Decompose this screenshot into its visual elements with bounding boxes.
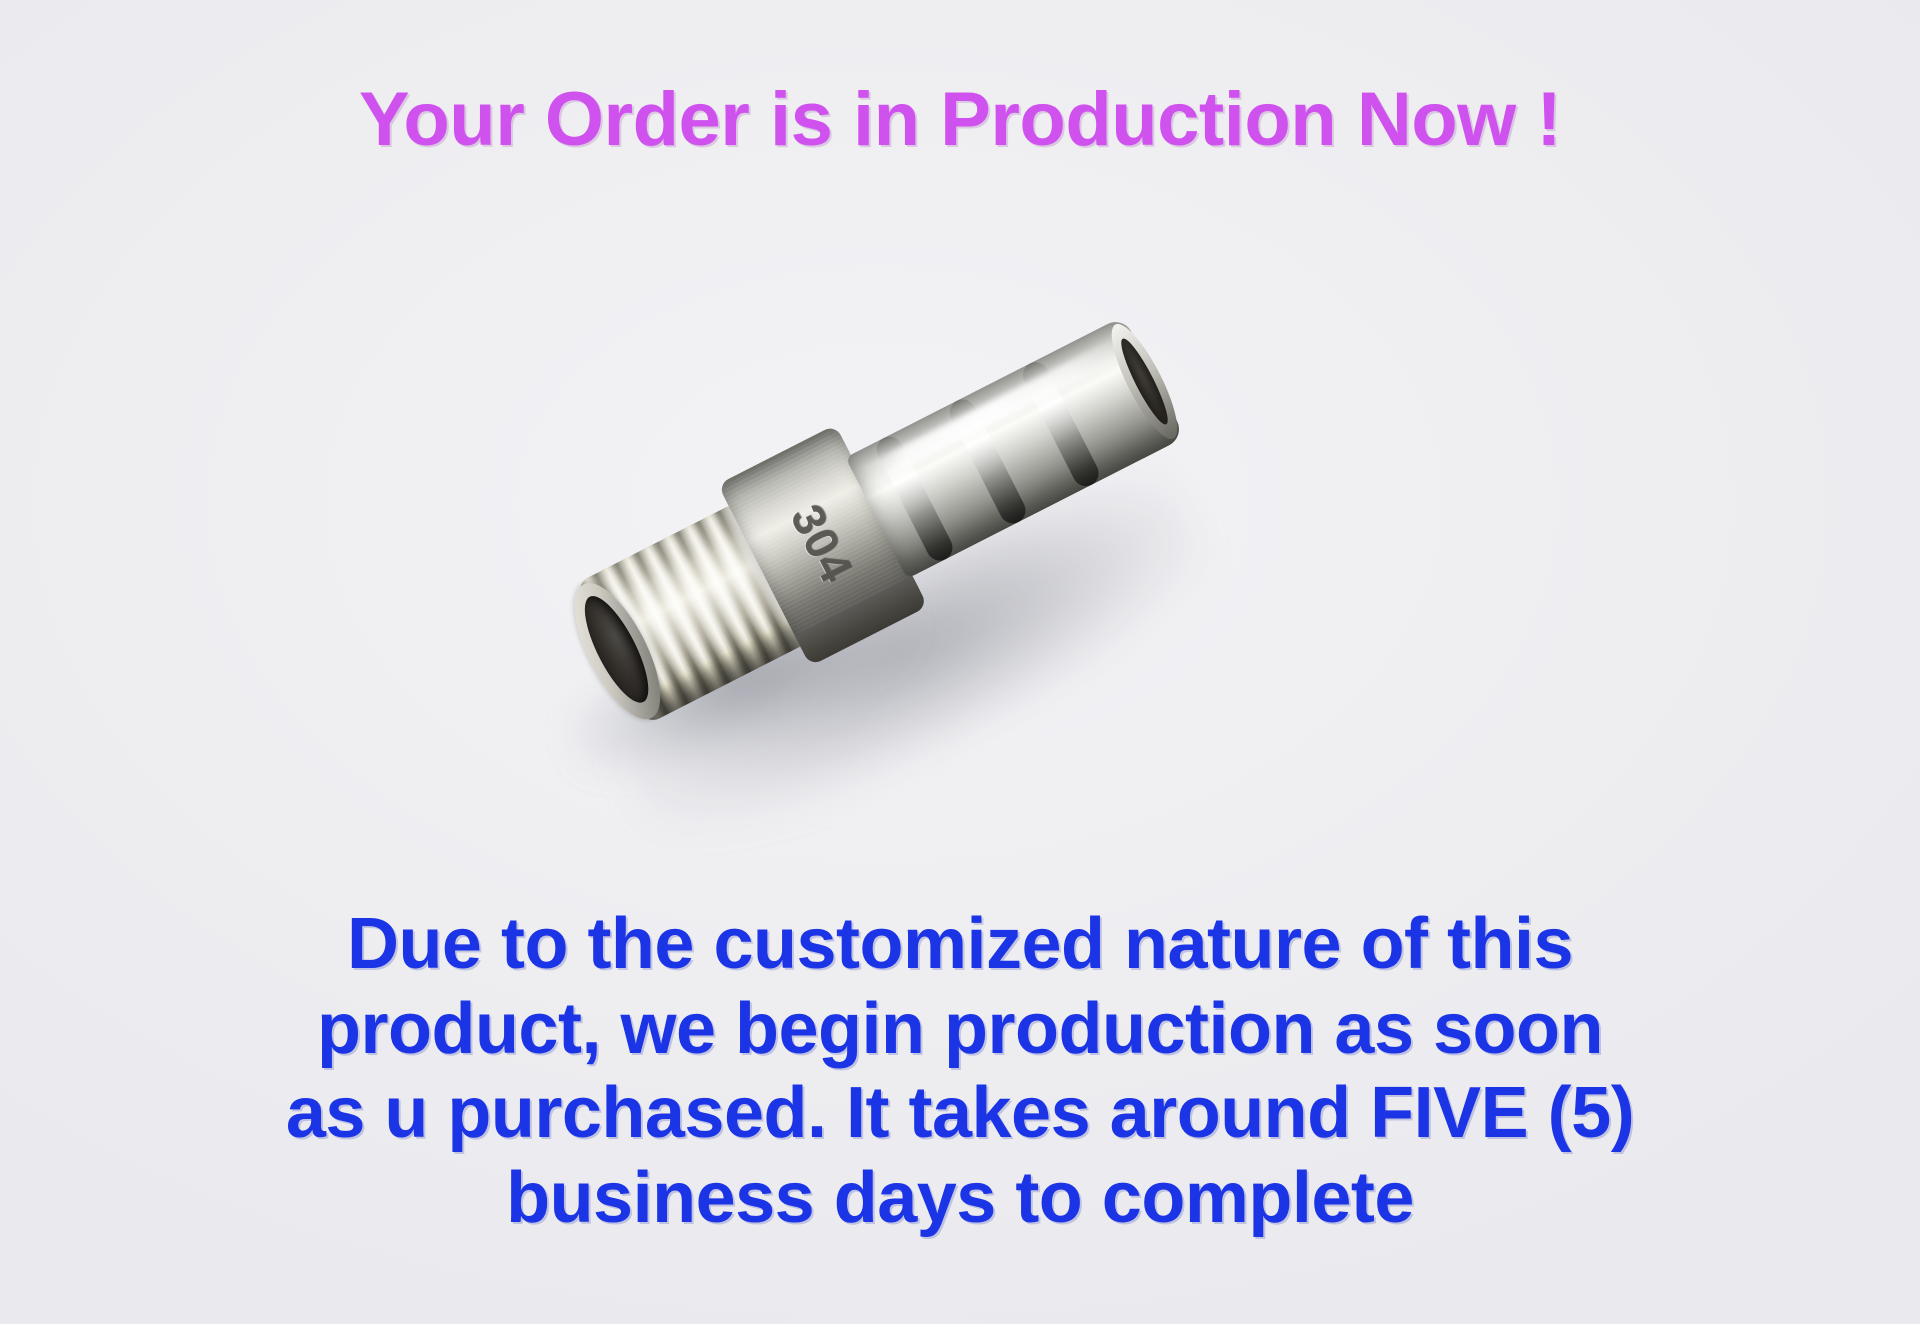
notice-line: as u purchased. It takes around FIVE (5)	[0, 1071, 1920, 1156]
production-notice: Due to the customized nature of this pro…	[0, 902, 1920, 1240]
promo-card: Your Order is in Production Now ! 304 Du…	[0, 0, 1920, 1324]
notice-line: product, we begin production as soon	[0, 987, 1920, 1072]
product-photo: 304	[0, 230, 1920, 790]
page-title: Your Order is in Production Now !	[0, 76, 1920, 163]
notice-line: Due to the customized nature of this	[0, 902, 1920, 987]
notice-line: business days to complete	[0, 1156, 1920, 1241]
